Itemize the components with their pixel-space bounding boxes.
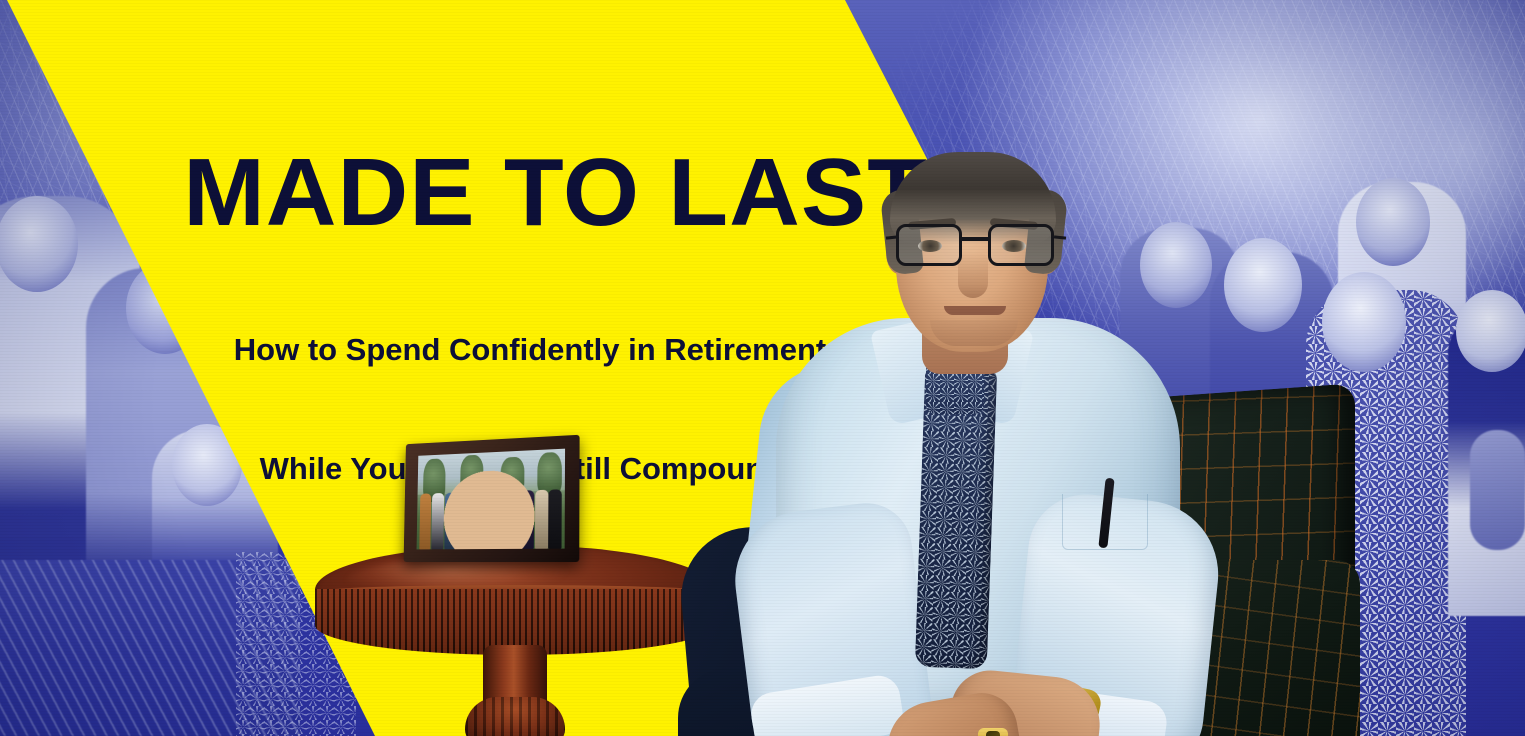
eyeglasses-temple-right — [1054, 235, 1066, 239]
eyeglasses-icon — [890, 224, 1062, 270]
framed-photo-image — [417, 449, 566, 550]
promo-banner: MADE TO LAST How to Spend Confidently in… — [0, 0, 1525, 736]
framed-photo-person — [549, 489, 562, 548]
gold-ring-large — [978, 728, 1008, 736]
eyeglasses-bridge — [962, 237, 988, 241]
seated-man-portrait — [690, 128, 1250, 736]
framed-photo-person-head — [443, 470, 535, 550]
family-photo-frame — [404, 435, 580, 562]
table-pedestal-base — [465, 697, 565, 736]
framed-photo-person — [419, 494, 431, 550]
eyeglasses-lens-right — [988, 224, 1054, 266]
framed-photo-person — [535, 490, 548, 549]
eyeglasses-lens-left — [896, 224, 962, 266]
man-chin — [930, 320, 1018, 346]
framed-photo-person — [432, 493, 444, 549]
side-table — [315, 545, 715, 736]
man-mouth — [944, 306, 1006, 315]
framed-photo-people — [419, 477, 561, 550]
